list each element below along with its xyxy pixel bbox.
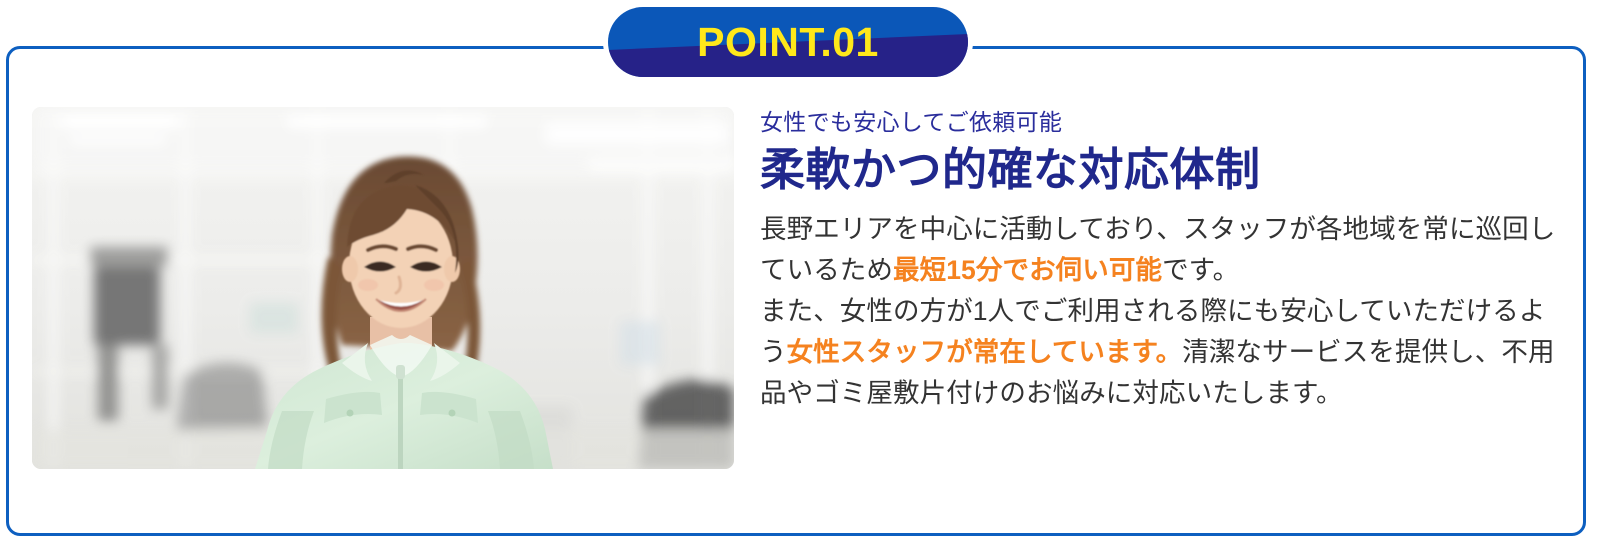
highlight-segment: 女性スタッフが常在しています。 [787, 337, 1183, 367]
staff-photo-illustration [32, 107, 734, 469]
body-paragraph-2: また、女性の方が1人でご利用される際にも安心していただけるよう女性スタッフが常在… [760, 291, 1557, 414]
point-badge-pill: POINT.01 [608, 7, 968, 77]
point-badge-label: POINT.01 [697, 22, 879, 63]
point-badge: POINT.01 [603, 2, 973, 82]
body-segment: です。 [1162, 255, 1239, 285]
point-card: 女性でも安心してご依頼可能 柔軟かつ的確な対応体制 長野エリアを中心に活動してお… [6, 46, 1586, 536]
staff-photo [32, 107, 734, 469]
body-paragraph-1: 長野エリアを中心に活動しており、スタッフが各地域を常に巡回しているため最短15分… [760, 209, 1557, 291]
card-body: 女性でも安心してご依頼可能 柔軟かつ的確な対応体制 長野エリアを中心に活動してお… [9, 49, 1583, 533]
highlight-segment: 最短15分でお伺い可能 [893, 255, 1162, 285]
text-column: 女性でも安心してご依頼可能 柔軟かつ的確な対応体制 長野エリアを中心に活動してお… [734, 107, 1557, 507]
eyebrow-text: 女性でも安心してご依頼可能 [760, 109, 1557, 137]
headline-text: 柔軟かつ的確な対応体制 [760, 145, 1557, 195]
point-section: 女性でも安心してご依頼可能 柔軟かつ的確な対応体制 長野エリアを中心に活動してお… [0, 0, 1600, 550]
